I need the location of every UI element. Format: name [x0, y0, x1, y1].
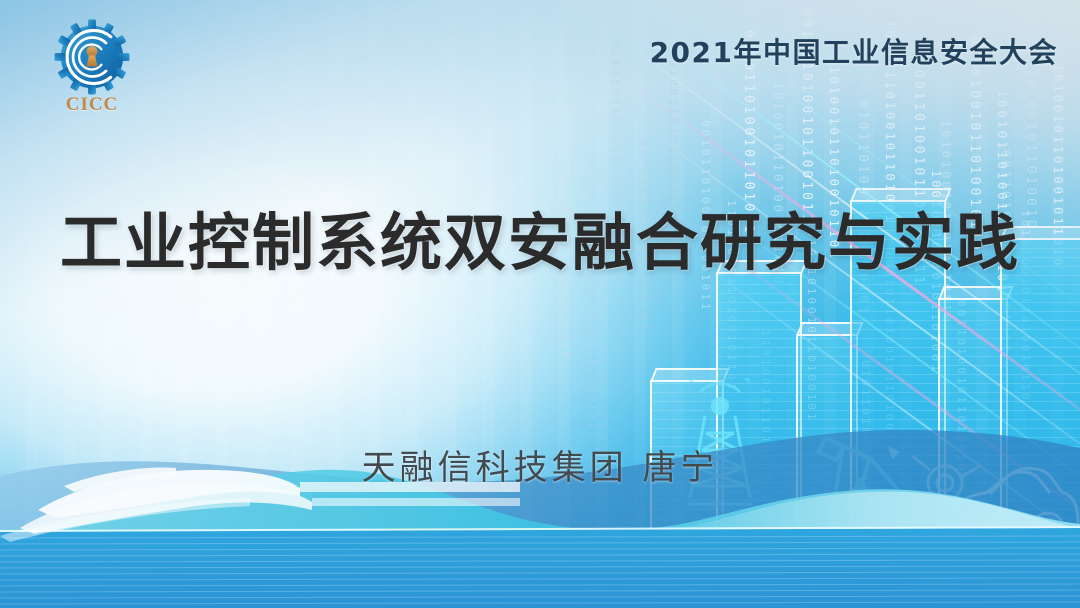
bottom-wave-decoration	[0, 378, 1080, 608]
page-title: 工业控制系统双安融合研究与实践	[0, 192, 1080, 282]
cicc-wordmark: CICC	[44, 94, 140, 116]
presentation-slide: 0100110100101101001010100101101001011010…	[0, 0, 1080, 608]
presenter-line: 天融信科技集团 唐宁	[0, 440, 1080, 489]
cicc-gear-icon	[53, 18, 131, 96]
conference-title: 2021年中国工业信息安全大会	[650, 31, 1058, 71]
cicc-logo: CICC	[44, 18, 140, 122]
